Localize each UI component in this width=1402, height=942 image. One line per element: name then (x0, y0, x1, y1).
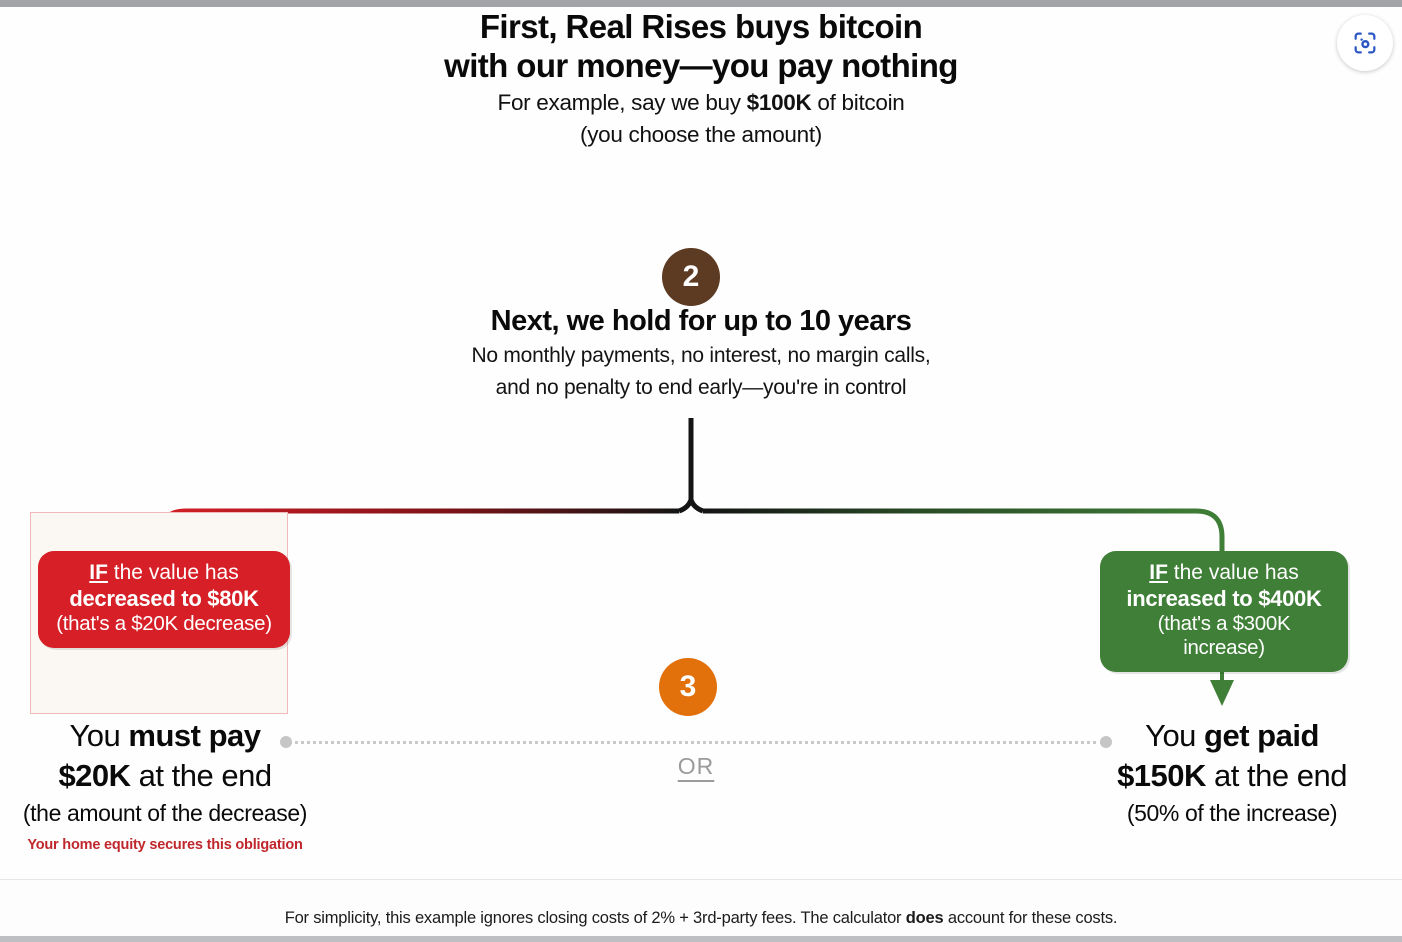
condition-pill-decrease-line-1: IF the value has (54, 561, 274, 586)
step-1-heading-line-1: First, Real Rises buys bitcoin (0, 8, 1402, 47)
outcome-downside-line-1-bold: must pay (128, 718, 260, 753)
step-1-sub-suffix: of bitcoin (811, 90, 904, 115)
outcome-downside-line-2-rest: at the end (131, 758, 272, 793)
top-chrome-bar (0, 0, 1402, 7)
condition-pill-increase-line-2: increased to $400K (1116, 586, 1332, 612)
outcome-upside-line-3: (50% of the increase) (1062, 798, 1402, 829)
step-1-subtext-line-1: For example, say we buy $100K of bitcoin (0, 89, 1402, 117)
step-1-block: First, Real Rises buys bitcoin with our … (0, 8, 1402, 149)
outcome-upside-amount: $150K (1117, 758, 1206, 793)
footer-disclaimer-part-1: For simplicity, this example ignores clo… (285, 909, 906, 927)
step-2-block: Next, we hold for up to 10 years No mont… (0, 305, 1402, 402)
footer-disclaimer: For simplicity, this example ignores clo… (0, 909, 1402, 928)
step-2-heading: Next, we hold for up to 10 years (0, 305, 1402, 338)
condition-pill-decrease-line-1-rest: the value has (108, 561, 239, 584)
step-2-subtext-line-2: and no penalty to end early—you're in co… (0, 374, 1402, 402)
or-divider-line (288, 741, 1104, 744)
if-label-red: IF (89, 561, 108, 584)
outcome-downside-line-3: (the amount of the decrease) (0, 798, 330, 829)
outcome-upside-line-2-rest: at the end (1206, 758, 1347, 793)
outcome-upside: You get paid $150K at the end (50% of th… (1062, 716, 1402, 829)
condition-pill-increase: IF the value has increased to $400K (tha… (1100, 551, 1348, 672)
outcome-upside-line-2: $150K at the end (1062, 756, 1402, 796)
step-1-sub-amount: $100K (747, 90, 812, 115)
outcome-downside-line-2: $20K at the end (0, 756, 330, 796)
condition-pill-increase-line-1-rest: the value has (1168, 561, 1299, 584)
outcome-downside-note: Your home equity secures this obligation (0, 837, 330, 853)
or-divider: OR (278, 735, 1114, 795)
bottom-chrome-bar (0, 936, 1402, 942)
outcome-upside-line-1: You get paid (1062, 716, 1402, 756)
condition-pill-decrease-line-2: decreased to $80K (54, 586, 274, 612)
step-2-subtext-line-1: No monthly payments, no interest, no mar… (0, 342, 1402, 370)
condition-pill-decrease: IF the value has decreased to $80K (that… (38, 551, 290, 648)
step-1-sub-prefix: For example, say we buy (498, 90, 747, 115)
or-divider-label: OR (278, 753, 1114, 780)
outcome-downside-line-1: You must pay (0, 716, 330, 756)
footer-disclaimer-part-2: account for these costs. (943, 909, 1117, 927)
outcome-downside-amount: $20K (58, 758, 130, 793)
step-2-badge: 2 (662, 248, 720, 306)
step-1-heading-line-2: with our money—you pay nothing (0, 47, 1402, 86)
footer-disclaimer-emphasis: does (906, 909, 944, 927)
step-3-badge: 3 (659, 658, 717, 716)
infographic-canvas: First, Real Rises buys bitcoin with our … (0, 0, 1402, 942)
outcome-downside: You must pay $20K at the end (the amount… (0, 716, 330, 853)
condition-pill-increase-line-1: IF the value has (1116, 561, 1332, 586)
outcome-upside-line-1-bold: get paid (1204, 718, 1319, 753)
outcome-downside-line-1-prefix: You (69, 718, 128, 753)
if-label-green: IF (1149, 561, 1168, 584)
step-1-subtext-line-2: (you choose the amount) (0, 121, 1402, 149)
condition-pill-increase-line-3: (that's a $300K increase) (1116, 612, 1332, 660)
condition-pill-decrease-line-3: (that's a $20K decrease) (54, 612, 274, 636)
outcome-upside-line-1-prefix: You (1145, 718, 1204, 753)
